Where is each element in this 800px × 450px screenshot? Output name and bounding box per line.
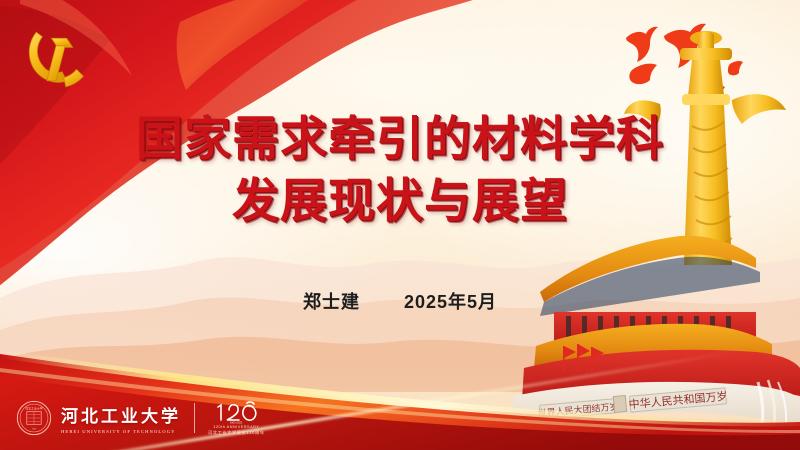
svg-text:1903-2023: 1903-2023	[230, 420, 243, 424]
presentation-date: 2025年5月	[404, 288, 497, 314]
slide-subtitle: 郑士建 2025年5月	[0, 288, 800, 314]
logo-divider	[194, 403, 195, 433]
university-logo-lockup: 河北工业大学 1903 河北工业大学 HEBEI UNIVERSITY OF T…	[16, 400, 265, 436]
svg-text:河北工业大学: 河北工业大学	[25, 405, 42, 410]
red-flags-icon	[556, 342, 608, 376]
title-line-2: 发展现状与展望	[0, 170, 800, 232]
title-line-1: 国家需求牵引的材料学科	[0, 108, 800, 170]
peace-doves-icon	[602, 18, 772, 104]
university-name-en: HEBEI UNIVERSITY OF TECHNOLOGY	[61, 429, 181, 434]
anniversary-label-cn: 河北工业大学建校120周年	[208, 430, 265, 436]
university-name-cn: 河北工业大学	[61, 402, 181, 427]
hammer-sickle-emblem-icon	[18, 20, 94, 96]
anniversary-emblem: 1903-2023 120th ANNIVERSARY 河北工业大学建校120周…	[208, 401, 265, 436]
presentation-title-slide: 中华人民共和国万岁 世界人民大团结万岁	[0, 0, 800, 450]
anniversary-label-en: 120th ANNIVERSARY	[213, 425, 259, 429]
anniversary-number-icon: 1903-2023	[213, 401, 259, 424]
university-name-block: 河北工业大学 HEBEI UNIVERSITY OF TECHNOLOGY	[61, 402, 181, 434]
slide-title: 国家需求牵引的材料学科 发展现状与展望	[0, 108, 800, 232]
author-name: 郑士建	[303, 288, 360, 314]
university-seal-icon: 河北工业大学 1903	[16, 400, 52, 436]
svg-text:1903: 1903	[32, 428, 37, 431]
